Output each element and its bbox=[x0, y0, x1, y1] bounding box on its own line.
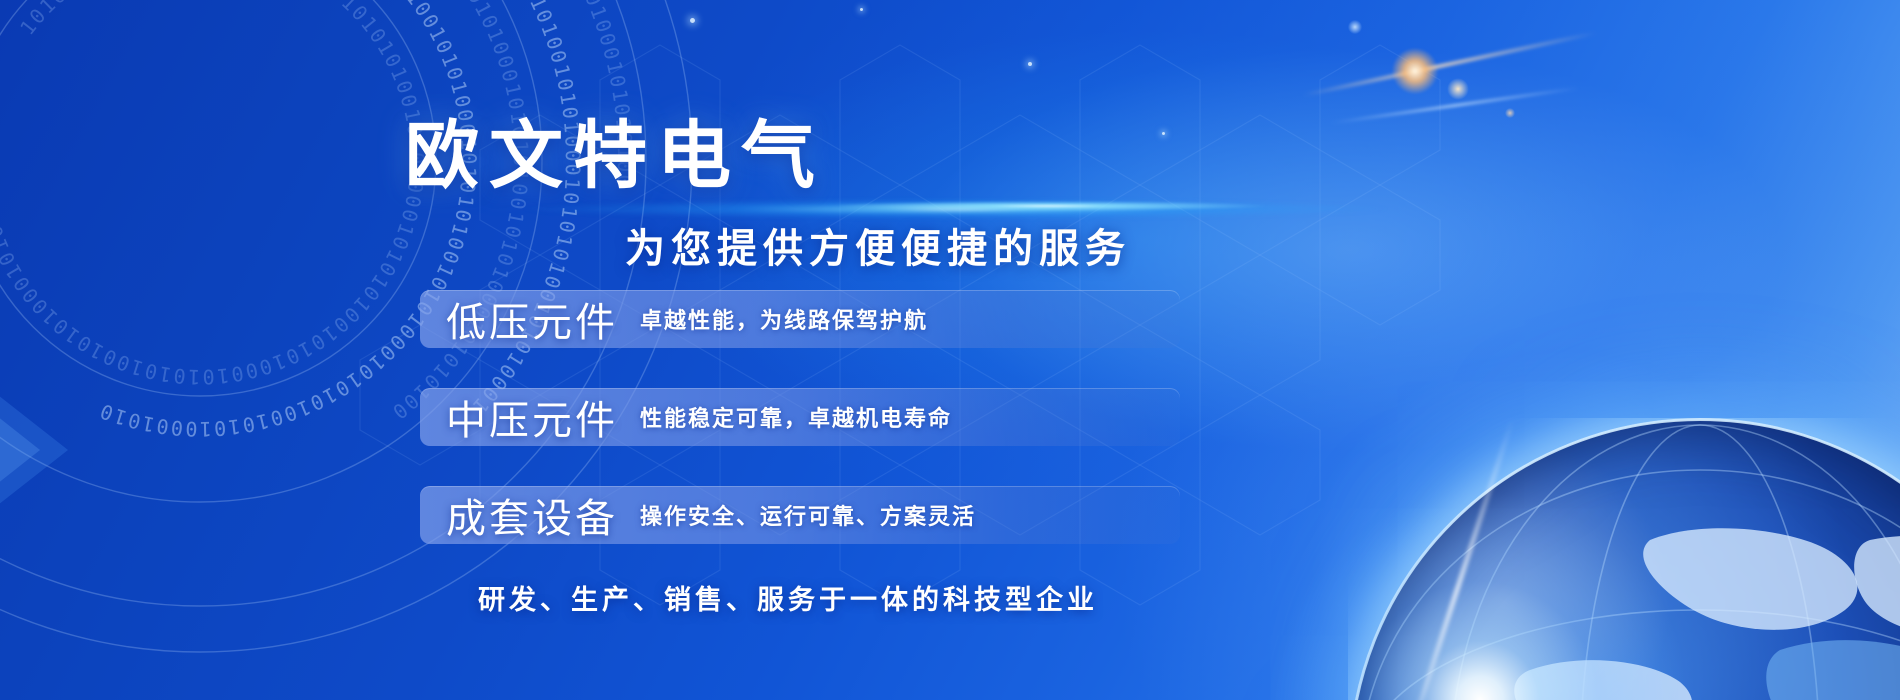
page-title: 欧文特电气 bbox=[405, 96, 825, 203]
page-subtitle: 为您提供方便便捷的服务 bbox=[625, 216, 1131, 274]
feature-description: 性能稳定可靠，卓越机电寿命 bbox=[640, 401, 952, 433]
company-tagline: 研发、生产、销售、服务于一体的科技型企业 bbox=[478, 578, 1098, 617]
feature-name: 低压元件 bbox=[446, 290, 618, 348]
banner-content: 欧文特电气 为您提供方便便捷的服务 低压元件 卓越性能，为线路保驾护航 中压元件… bbox=[0, 0, 1900, 700]
feature-item-low-voltage[interactable]: 低压元件 卓越性能，为线路保驾护航 bbox=[420, 290, 1180, 348]
feature-description: 卓越性能，为线路保驾护航 bbox=[640, 303, 928, 335]
feature-item-complete-equipment[interactable]: 成套设备 操作安全、运行可靠、方案灵活 bbox=[420, 486, 1180, 544]
feature-description: 操作安全、运行可靠、方案灵活 bbox=[640, 499, 976, 531]
hero-banner: 0101010001010100101010001010101001010100… bbox=[0, 0, 1900, 700]
feature-item-medium-voltage[interactable]: 中压元件 性能稳定可靠，卓越机电寿命 bbox=[420, 388, 1180, 446]
feature-name: 中压元件 bbox=[446, 388, 618, 446]
feature-list: 低压元件 卓越性能，为线路保驾护航 中压元件 性能稳定可靠，卓越机电寿命 成套设… bbox=[420, 290, 1180, 584]
feature-name: 成套设备 bbox=[446, 486, 618, 544]
